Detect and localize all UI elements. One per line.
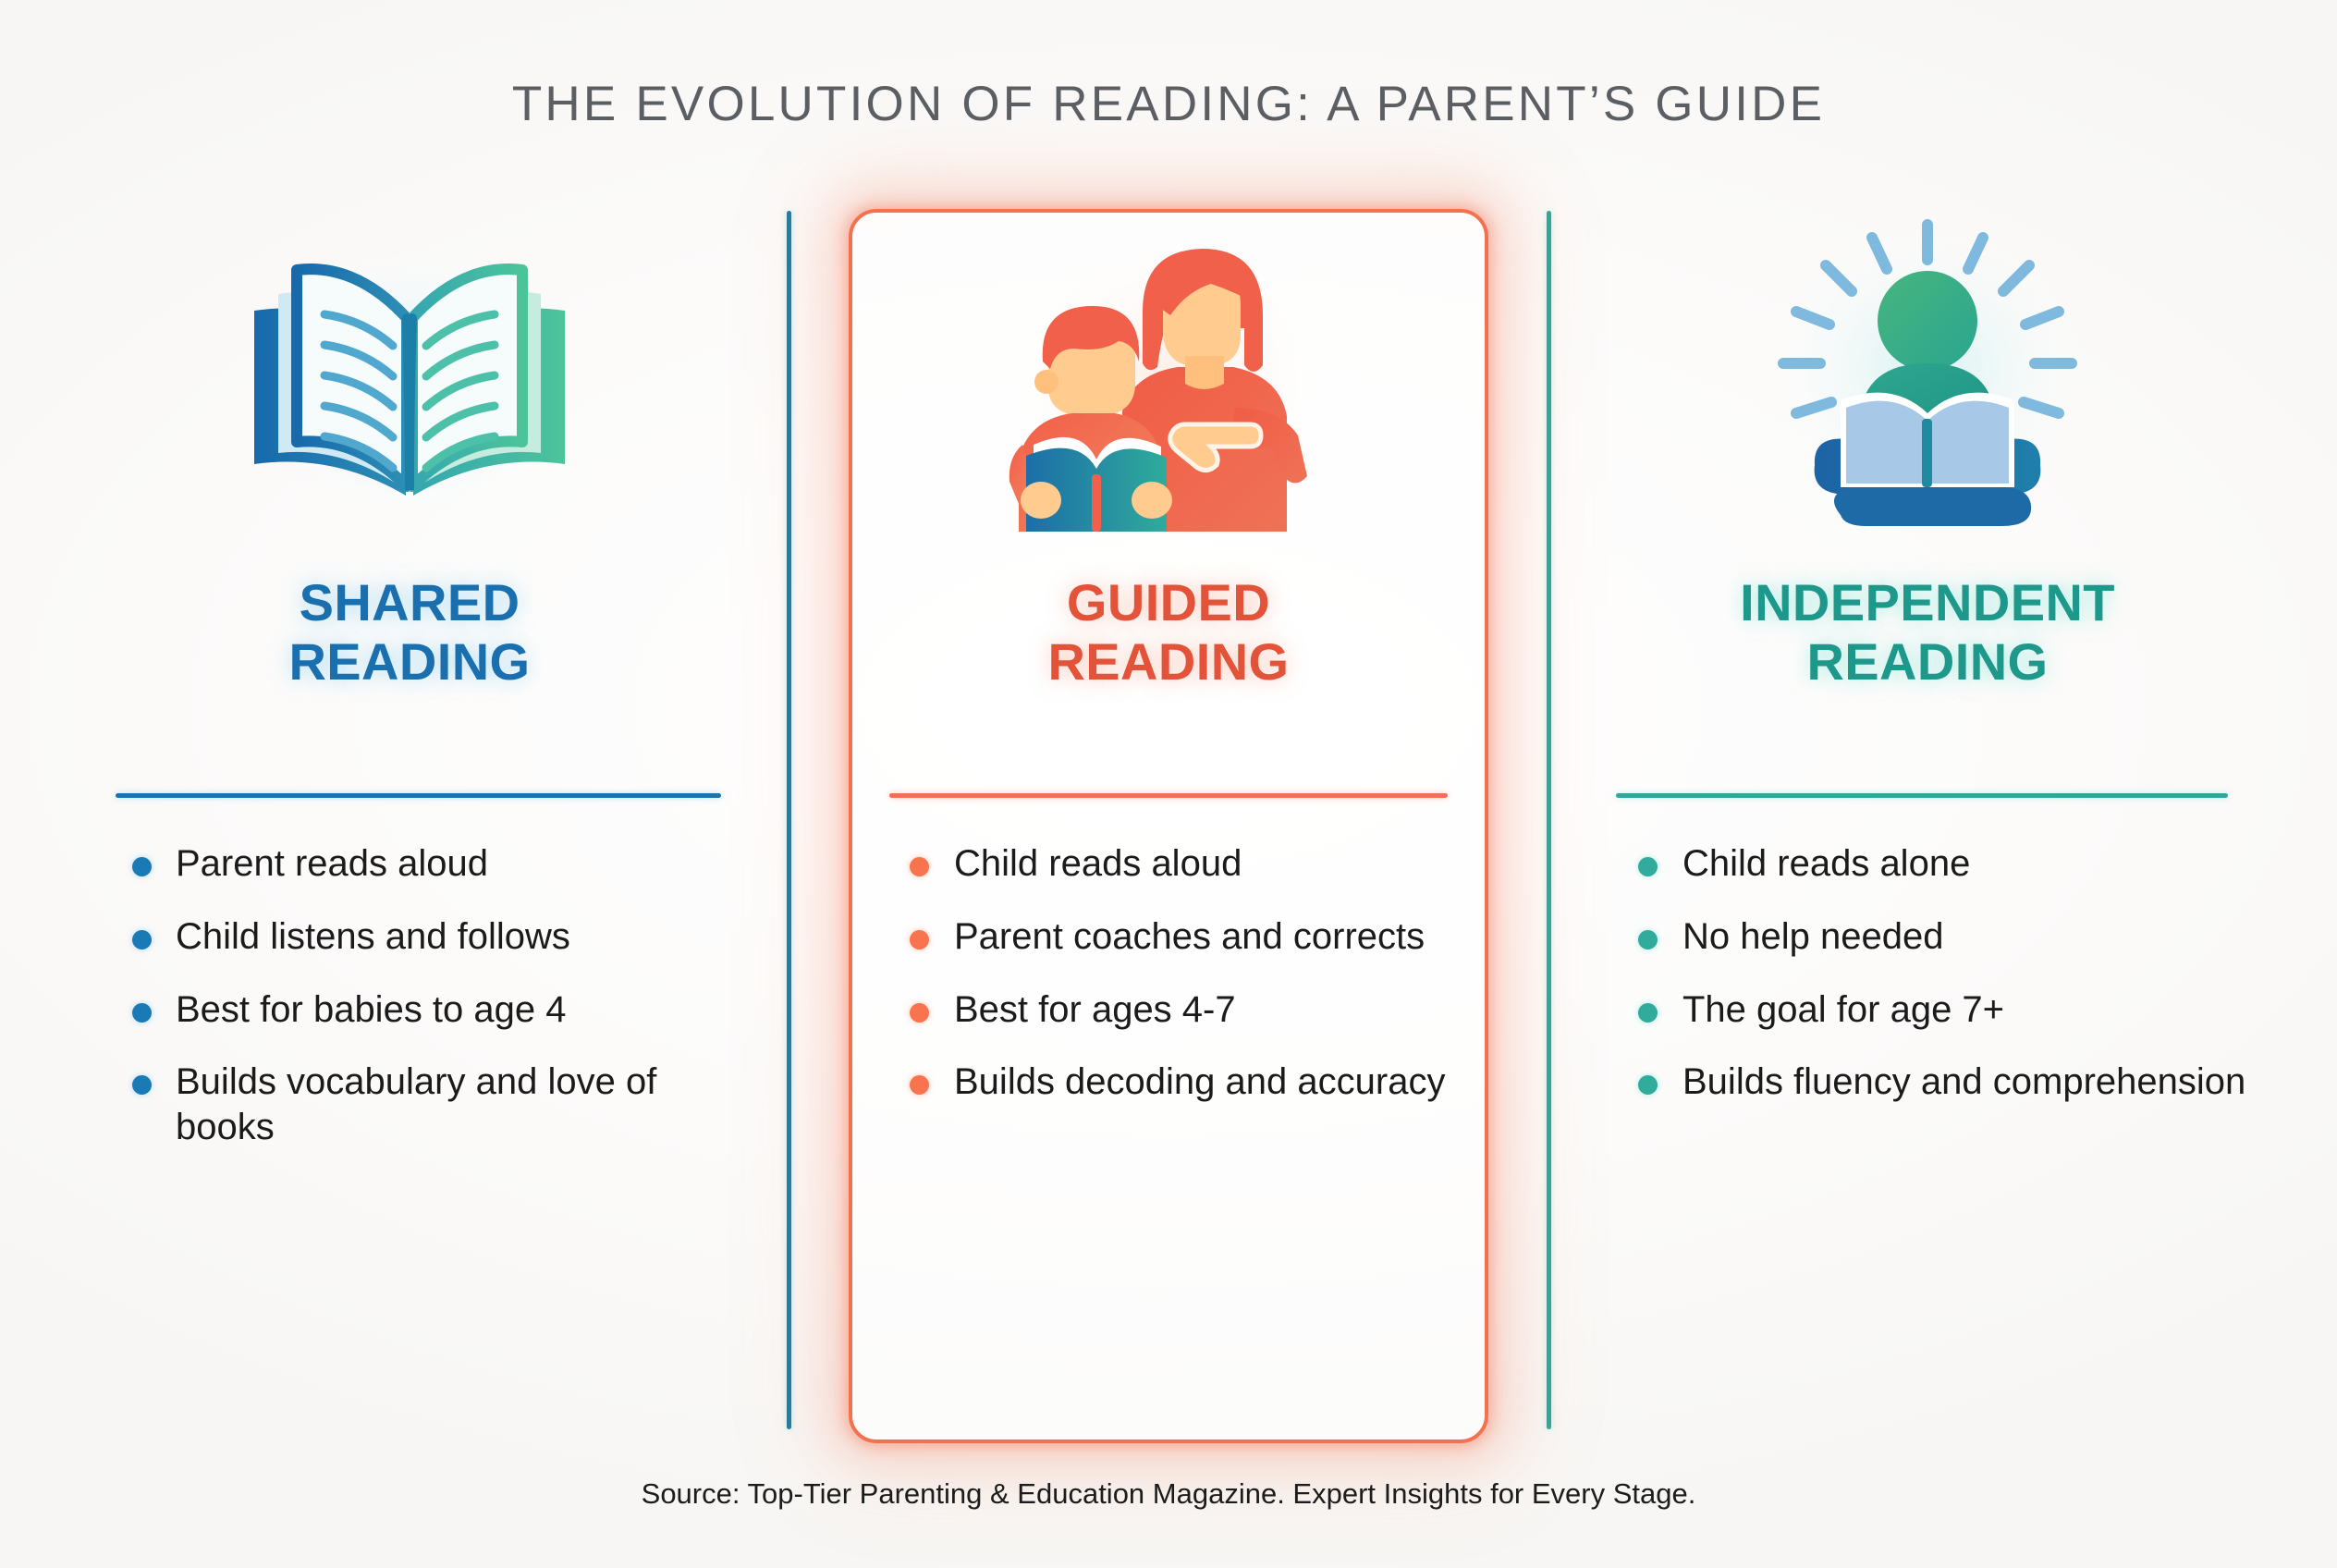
bullet-dot-icon <box>132 930 152 949</box>
bullet-dot-icon <box>132 1003 152 1023</box>
infographic-canvas: THE EVOLUTION OF READING: A PARENT’S GUI… <box>0 0 2337 1568</box>
list-item: The goal for age 7+ <box>1588 987 2267 1033</box>
bullet-dot-icon <box>910 857 929 876</box>
list-item-label: Child reads alone <box>1682 843 1970 884</box>
list-item: Builds vocabulary and love of books <box>72 1060 747 1150</box>
list-item-label: Builds vocabulary and love of books <box>176 1061 656 1147</box>
list-item: Child reads alone <box>1588 841 2267 887</box>
column-independent-reading[interactable]: INDEPENDENT READING Child reads alone No… <box>1588 194 2267 1452</box>
list-item: No help needed <box>1588 914 2267 960</box>
heading-line-1: GUIDED <box>1067 573 1270 631</box>
list-item: Builds fluency and comprehension <box>1588 1060 2267 1105</box>
bullet-dot-icon <box>910 1075 929 1095</box>
list-item-label: No help needed <box>1682 916 1943 957</box>
heading-rule-guided <box>889 793 1448 798</box>
list-item-label: Builds fluency and comprehension <box>1682 1061 2245 1102</box>
list-item: Builds decoding and accuracy <box>849 1060 1488 1105</box>
source-note: Source: Top-Tier Parenting & Education M… <box>0 1477 2337 1511</box>
heading-line-2: READING <box>288 632 530 691</box>
list-item: Parent coaches and corrects <box>849 914 1488 960</box>
bullet-dot-icon <box>1638 1075 1658 1095</box>
bullet-dot-icon <box>132 857 152 876</box>
list-item-label: Parent coaches and corrects <box>954 916 1425 957</box>
list-item-label: Best for ages 4-7 <box>954 989 1236 1030</box>
bullet-dot-icon <box>132 1075 152 1095</box>
columns-container: SHARED READING Parent reads aloud Child … <box>0 194 2337 1452</box>
heading-rule-shared <box>116 793 721 798</box>
parent-and-child-reading-icon <box>849 194 1488 564</box>
list-item: Child listens and follows <box>72 914 747 960</box>
list-item-label: Builds decoding and accuracy <box>954 1061 1445 1102</box>
bullet-dot-icon <box>1638 1003 1658 1023</box>
list-item-label: The goal for age 7+ <box>1682 989 2004 1030</box>
list-item: Best for ages 4-7 <box>849 987 1488 1033</box>
bullet-dot-icon <box>910 930 929 949</box>
divider-left <box>787 211 791 1429</box>
heading-line-1: INDEPENDENT <box>1740 573 2115 631</box>
list-item-label: Child reads aloud <box>954 843 1242 884</box>
bullet-dot-icon <box>1638 930 1658 949</box>
heading-line-2: READING <box>1806 632 2048 691</box>
list-item: Parent reads aloud <box>72 841 747 887</box>
bullet-dot-icon <box>1638 857 1658 876</box>
heading-line-1: SHARED <box>300 573 520 631</box>
divider-right <box>1547 211 1551 1429</box>
column-guided-reading[interactable]: GUIDED READING Child reads aloud Parent … <box>849 194 1488 1452</box>
heading-rule-independent <box>1616 793 2228 798</box>
list-item-label: Parent reads aloud <box>176 843 488 884</box>
heading-line-2: READING <box>1047 632 1289 691</box>
bullet-list-shared: Parent reads aloud Child listens and fol… <box>72 841 747 1178</box>
bullet-dot-icon <box>910 1003 929 1023</box>
column-shared-reading[interactable]: SHARED READING Parent reads aloud Child … <box>72 194 747 1452</box>
open-book-icon <box>72 194 747 564</box>
bullet-list-independent: Child reads alone No help needed The goa… <box>1588 841 2267 1133</box>
heading-shared-reading: SHARED READING <box>72 573 747 692</box>
list-item: Child reads aloud <box>849 841 1488 887</box>
heading-independent-reading: INDEPENDENT READING <box>1588 573 2267 692</box>
heading-guided-reading: GUIDED READING <box>849 573 1488 692</box>
page-title: THE EVOLUTION OF READING: A PARENT’S GUI… <box>0 76 2337 132</box>
list-item-label: Child listens and follows <box>176 916 570 957</box>
bullet-list-guided: Child reads aloud Parent coaches and cor… <box>849 841 1488 1133</box>
child-reading-alone-icon <box>1588 194 2267 564</box>
list-item-label: Best for babies to age 4 <box>176 989 567 1030</box>
list-item: Best for babies to age 4 <box>72 987 747 1033</box>
